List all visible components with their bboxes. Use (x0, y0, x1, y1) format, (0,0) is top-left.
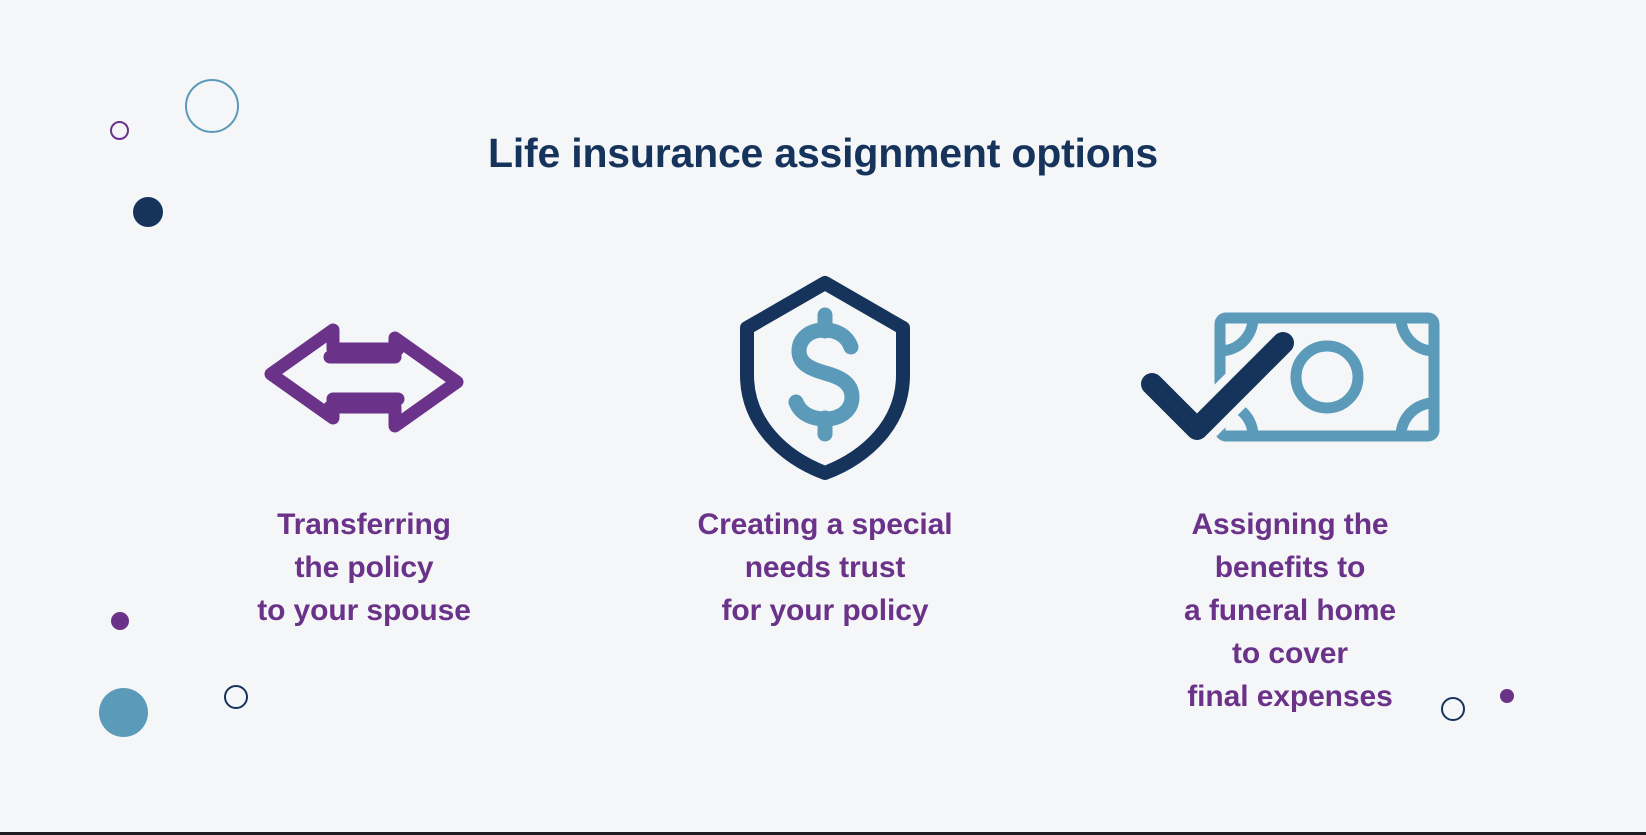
caption-line: Transferring (257, 504, 471, 547)
option-transfer: Transferring the policy to your spouse (164, 275, 564, 633)
caption-line: the policy (257, 547, 471, 590)
option-funeral: Assigning the benefits to a funeral home… (1090, 275, 1490, 718)
banknote-check-icon (1140, 275, 1440, 480)
large-blue-dot (99, 688, 148, 737)
caption-line: for your policy (698, 590, 953, 633)
caption-line: to your spouse (257, 590, 471, 633)
option-transfer-caption: Transferring the policy to your spouse (257, 504, 471, 633)
caption-line: to cover (1184, 633, 1396, 676)
option-funeral-caption: Assigning the benefits to a funeral home… (1184, 504, 1396, 718)
shield-dollar-icon (737, 275, 913, 480)
two-way-arrows-icon (261, 275, 467, 480)
caption-line: needs trust (698, 547, 953, 590)
option-trust-caption: Creating a special needs trust for your … (698, 504, 953, 633)
caption-line: benefits to (1184, 547, 1396, 590)
caption-line: a funeral home (1184, 590, 1396, 633)
option-trust: Creating a special needs trust for your … (625, 275, 1025, 633)
large-blue-ring (185, 79, 239, 133)
page-title: Life insurance assignment options (0, 130, 1646, 177)
caption-line: final expenses (1184, 676, 1396, 719)
purple-dot-right (1500, 689, 1514, 703)
navy-filled-dot (133, 197, 163, 227)
infographic-slide: Life insurance assignment options Transf… (0, 0, 1646, 835)
options-row: Transferring the policy to your spouse (160, 275, 1490, 718)
caption-line: Creating a special (698, 504, 953, 547)
small-purple-dot (111, 612, 129, 630)
caption-line: Assigning the (1184, 504, 1396, 547)
